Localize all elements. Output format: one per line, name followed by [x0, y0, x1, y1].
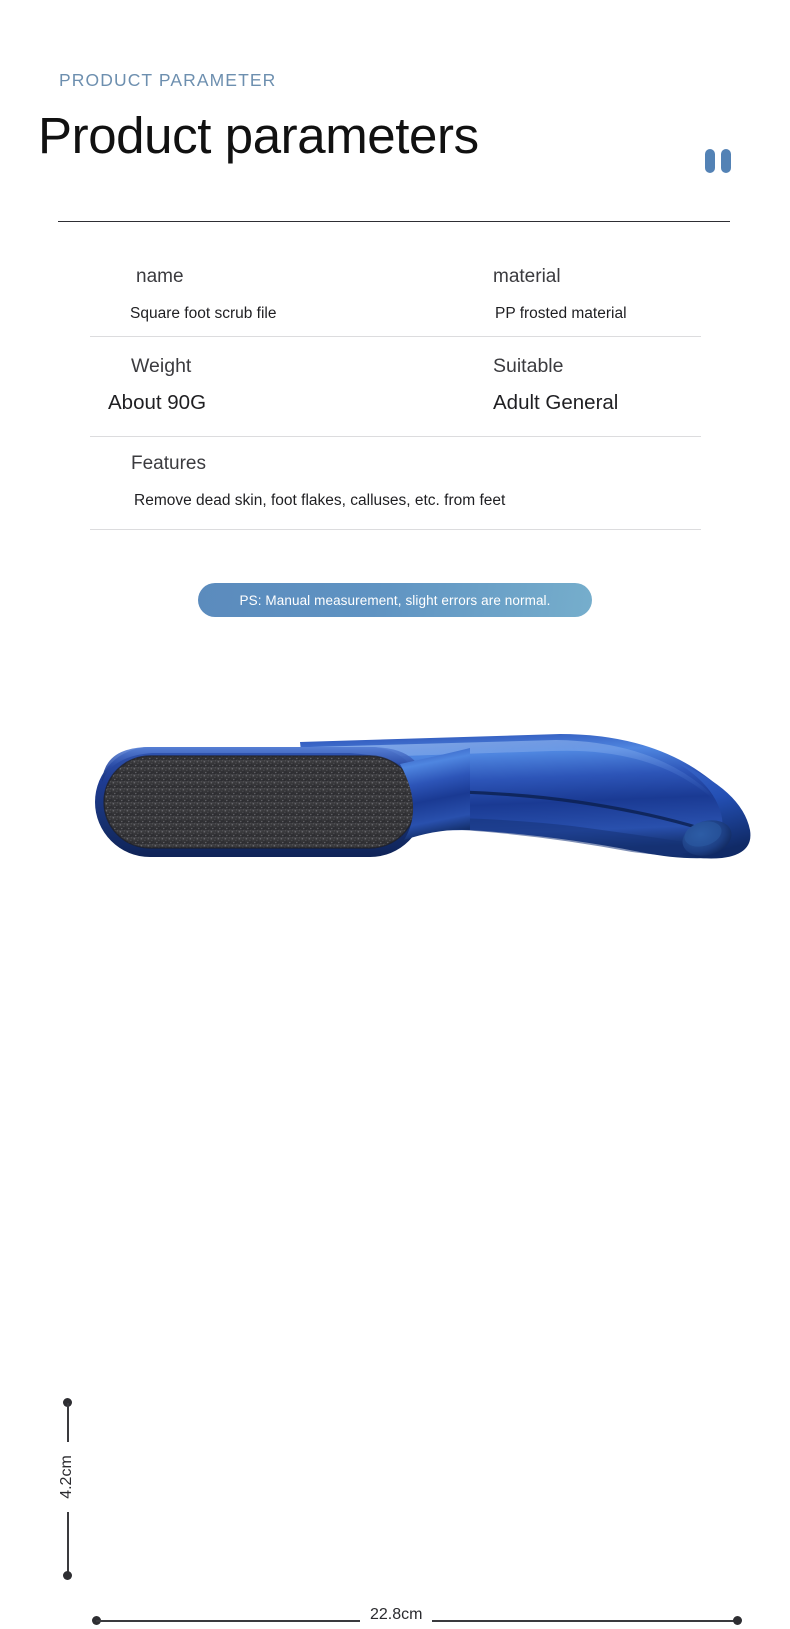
dimension-height-endpoint-bottom — [63, 1571, 72, 1580]
spec-value-material: PP frosted material — [495, 305, 627, 323]
spec-key-name: name — [136, 266, 276, 288]
dimension-height-label: 4.2cm — [56, 1442, 78, 1512]
spec-value-weight: About 90G — [108, 391, 206, 415]
spec-cell-weight: Weight About 90G — [131, 355, 206, 415]
pause-mark-icon — [705, 149, 735, 173]
spec-key-features: Features — [131, 453, 505, 475]
page-title: Product parameters — [38, 105, 479, 167]
pause-mark-bar-right — [721, 149, 731, 173]
spec-key-suitable: Suitable — [493, 355, 618, 378]
dimension-width-label: 22.8cm — [360, 1606, 432, 1624]
spec-cell-name: name Square foot scrub file — [136, 266, 276, 323]
pause-mark-bar-left — [705, 149, 715, 173]
spec-cell-features: Features Remove dead skin, foot flakes, … — [131, 453, 505, 510]
spec-value-name: Square foot scrub file — [130, 305, 276, 323]
spec-value-suitable: Adult General — [493, 391, 618, 415]
product-abrasive-surface — [104, 756, 416, 848]
eyebrow-label: PRODUCT PARAMETER — [59, 70, 276, 91]
spec-key-weight: Weight — [131, 355, 206, 378]
table-row-divider-1 — [90, 336, 701, 337]
spec-value-features: Remove dead skin, foot flakes, calluses,… — [134, 492, 505, 510]
product-figure: 4.2cm 22.8cm — [0, 690, 790, 978]
spec-cell-material: material PP frosted material — [493, 266, 627, 323]
spec-cell-suitable: Suitable Adult General — [493, 355, 618, 415]
page-header: PRODUCT PARAMETER Product parameters — [0, 0, 790, 210]
dimension-width: 22.8cm — [92, 1613, 742, 1629]
measurement-notice-banner: PS: Manual measurement, slight errors ar… — [198, 583, 592, 617]
table-top-divider — [58, 221, 730, 222]
spec-key-material: material — [493, 266, 627, 288]
dimension-height: 4.2cm — [60, 1398, 76, 1580]
product-photo — [0, 690, 790, 978]
table-row-divider-2 — [90, 436, 701, 437]
dimension-width-endpoint-right — [733, 1616, 742, 1625]
table-row-divider-3 — [90, 529, 701, 530]
measurement-notice-text: PS: Manual measurement, slight errors ar… — [239, 593, 550, 608]
